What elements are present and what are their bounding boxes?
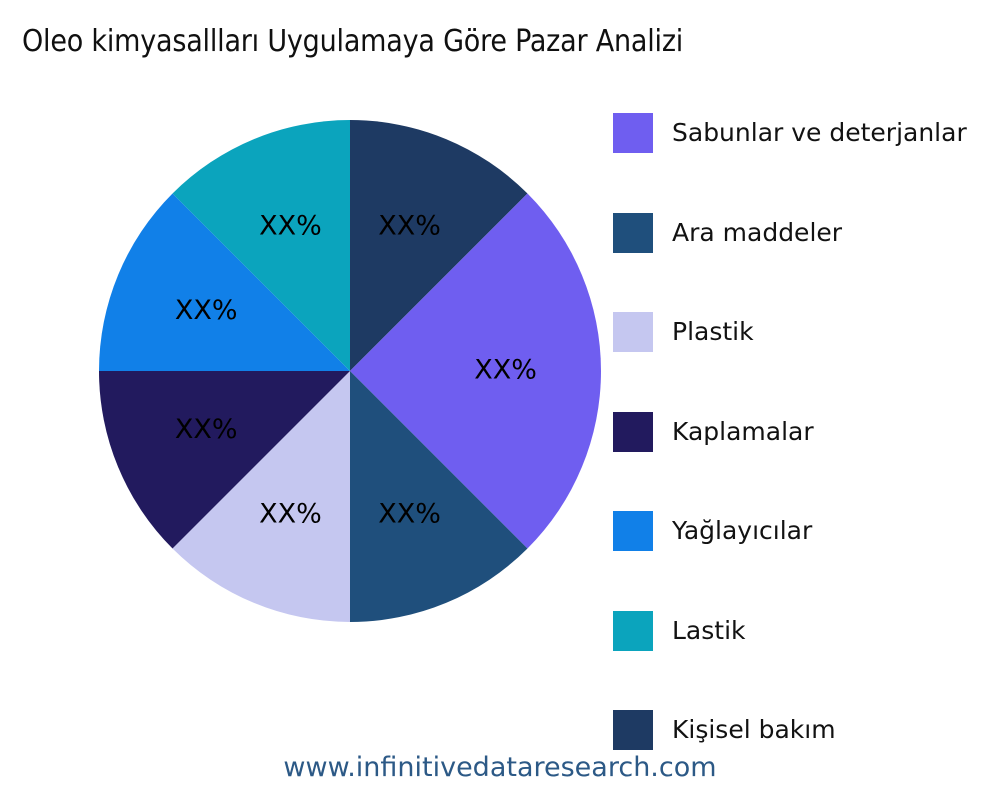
legend-swatch-icon [613,710,653,750]
legend-item[interactable]: Kişisel bakım [613,709,836,751]
legend-swatch-icon [613,113,653,153]
pie-chart: XX%XX%XX%XX%XX%XX%XX% [0,0,700,760]
pie-slice-label: XX% [378,211,441,242]
legend-item[interactable]: Lastik [613,610,746,652]
legend-swatch-icon [613,312,653,352]
pie-slice-label: XX% [259,498,322,529]
legend-item[interactable]: Sabunlar ve deterjanlar [613,112,967,154]
chart-legend: Sabunlar ve deterjanlarAra maddelerPlast… [613,112,1000,772]
legend-swatch-icon [613,611,653,651]
legend-item[interactable]: Ara maddeler [613,212,842,254]
legend-item-label: Ara maddeler [672,219,842,247]
legend-item-label: Sabunlar ve deterjanlar [672,119,967,147]
legend-item-label: Lastik [672,617,746,645]
legend-item-label: Kaplamalar [672,418,814,446]
pie-slice-label: XX% [378,498,441,529]
legend-item-label: Plastik [672,318,754,346]
legend-item[interactable]: Plastik [613,311,754,353]
legend-swatch-icon [613,213,653,253]
legend-item[interactable]: Yağlayıcılar [613,510,812,552]
pie-slice-label: XX% [175,414,238,445]
legend-item[interactable]: Kaplamalar [613,411,814,453]
watermark-url: www.infinitivedataresearch.com [0,752,1000,783]
legend-swatch-icon [613,412,653,452]
legend-item-label: Yağlayıcılar [672,517,812,545]
legend-item-label: Kişisel bakım [672,716,836,744]
pie-slice-label: XX% [474,355,537,386]
pie-slice-label: XX% [175,295,238,326]
pie-slice-label: XX% [259,211,322,242]
legend-swatch-icon [613,511,653,551]
pie-chart-svg: XX%XX%XX%XX%XX%XX%XX% [0,0,700,760]
chart-root: Oleo kimyasallları Uygulamaya Göre Pazar… [0,0,1000,800]
